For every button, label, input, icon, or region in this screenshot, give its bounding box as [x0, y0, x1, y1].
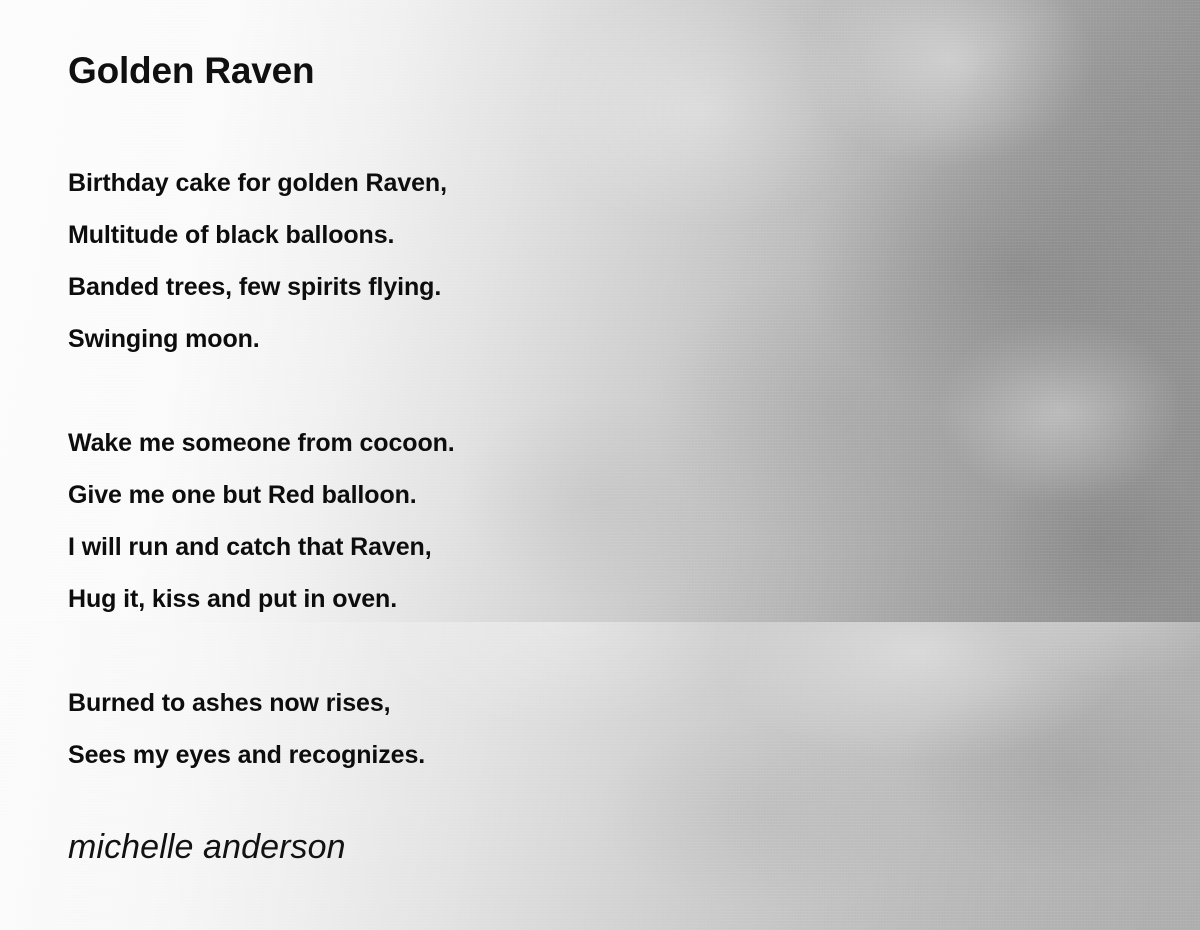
poem-title: Golden Raven — [68, 50, 314, 92]
poem-line: I will run and catch that Raven, — [68, 521, 968, 573]
poem-line: Burned to ashes now rises, — [68, 677, 968, 729]
poem-stanza: Burned to ashes now rises, Sees my eyes … — [68, 677, 968, 781]
poem-body: Birthday cake for golden Raven, Multitud… — [68, 157, 968, 781]
poem-line: Hug it, kiss and put in oven. — [68, 573, 968, 625]
poem-stanza: Birthday cake for golden Raven, Multitud… — [68, 157, 968, 365]
poem-line: Swinging moon. — [68, 313, 968, 365]
poem-line: Multitude of black balloons. — [68, 209, 968, 261]
poem-line: Birthday cake for golden Raven, — [68, 157, 968, 209]
poem-line: Banded trees, few spirits flying. — [68, 261, 968, 313]
poem-line: Wake me someone from cocoon. — [68, 417, 968, 469]
poem-image-card: Golden Raven Birthday cake for golden Ra… — [0, 0, 1200, 930]
poem-line: Give me one but Red balloon. — [68, 469, 968, 521]
poem-content: Golden Raven Birthday cake for golden Ra… — [0, 0, 1200, 930]
poem-author-signature: michelle anderson — [68, 828, 346, 867]
poem-stanza: Wake me someone from cocoon. Give me one… — [68, 417, 968, 625]
poem-line: Sees my eyes and recognizes. — [68, 729, 968, 781]
